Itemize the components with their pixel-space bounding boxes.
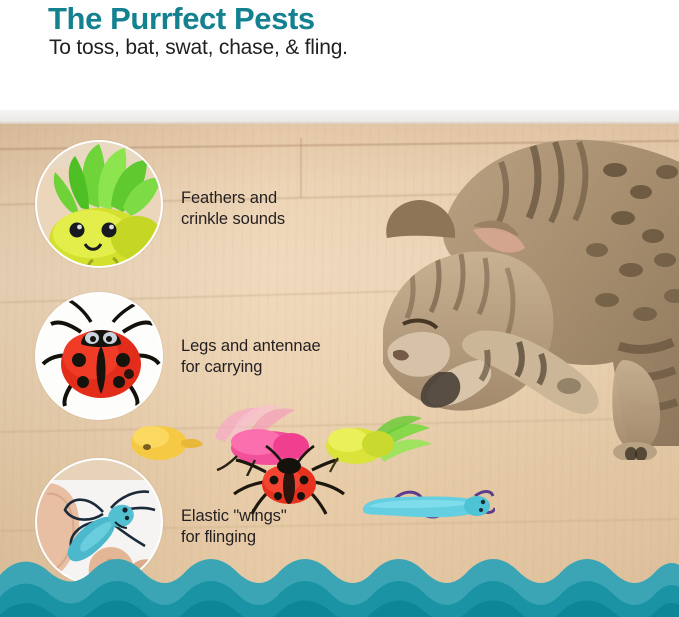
teal-dragonfly-toy [355,482,495,530]
floorboard-seam [300,138,302,198]
decorative-wave-border [0,545,679,617]
brown-spotted-tabby-cat [383,110,679,460]
feature-label-elastic-wings: Elastic "wings" for flinging [181,506,287,548]
ladybug-toy-closeup [37,294,163,420]
green-plush-toy-closeup [37,142,163,268]
page-subtitle: To toss, bat, swat, chase, & fling. [49,36,348,60]
product-infographic: The Purrfect Pests To toss, bat, swat, c… [0,0,679,617]
callout-circle-frame [35,292,163,420]
feature-label-legs-antennae: Legs and antennae for carrying [181,336,321,378]
callout-legs-antennae[interactable] [35,292,163,420]
green-plush-toy-with-feathers [318,410,434,474]
header: The Purrfect Pests To toss, bat, swat, c… [0,0,679,110]
callout-circle-frame [35,140,163,268]
feature-label-feathers-crinkle: Feathers and crinkle sounds [181,188,285,230]
page-title: The Purrfect Pests [48,1,315,37]
product-photo: Feathers and crinkle sounds Legs and ant… [0,110,679,617]
callout-feathers-crinkle[interactable] [35,140,163,268]
